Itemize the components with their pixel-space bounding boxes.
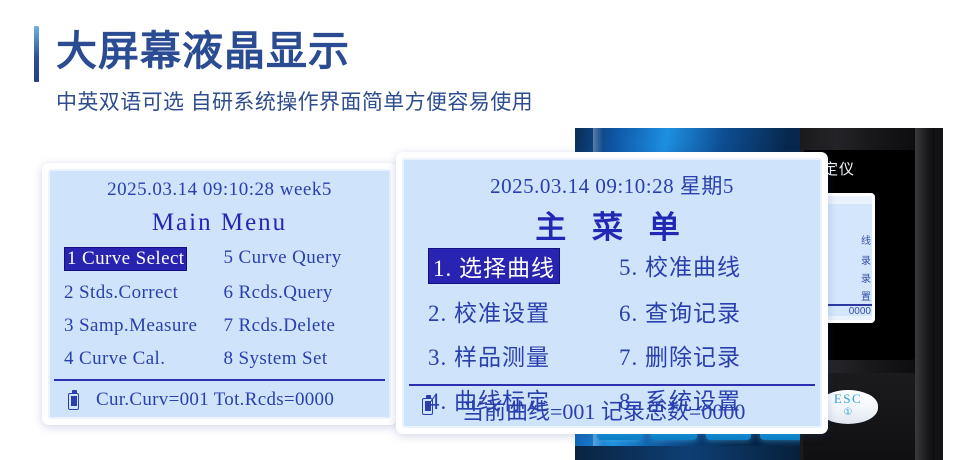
menu-cell: 6 Rcds.Query <box>224 282 384 304</box>
menu-cell: 5 Curve Query <box>224 247 384 271</box>
battery-icon <box>422 398 433 415</box>
menu-item-curve-query[interactable]: 5 Curve Query <box>224 247 342 269</box>
lcd-screen-chinese: 2025.03.14 09:10:28 星期5 主 菜 单 1. 选择曲线 5.… <box>396 152 828 434</box>
device-right-edge <box>915 128 937 460</box>
menu-item-select-curve[interactable]: 1. 选择曲线 <box>428 248 560 284</box>
menu-item-rcds-delete[interactable]: 7 Rcds.Delete <box>224 315 336 337</box>
battery-icon <box>68 393 79 410</box>
device-right-edge-shadow <box>935 128 943 460</box>
menu-grid-chinese: 1. 选择曲线 5. 校准曲线 2. 校准设置 6. 查询记录 3. 样品测量 … <box>428 248 810 416</box>
lcd-screen-english: 2025.03.14 09:10:28 week5 Main Menu 1 Cu… <box>42 163 397 425</box>
status-bar-english: 2025.03.14 09:10:28 week5 <box>50 179 389 201</box>
menu-cell: 4 Curve Cal. <box>64 348 224 370</box>
menu-cell: 3. 样品测量 <box>428 338 619 372</box>
mini-line-4: 置 <box>861 288 871 303</box>
menu-cell: 2. 校准设置 <box>428 294 619 328</box>
menu-cell: 2 Stds.Correct <box>64 282 224 304</box>
menu-item-system-set[interactable]: 8 System Set <box>224 348 328 370</box>
menu-item-curve-cal[interactable]: 4 Curve Cal. <box>64 348 165 370</box>
mini-line-2: 录 <box>861 252 871 267</box>
menu-item-rcds-query[interactable]: 6 Rcds.Query <box>224 282 333 304</box>
screenshot-root: 大屏幕液晶显示 中英双语可选 自研系统操作界面简单方便容易使用 测定仪 线 录 … <box>0 0 980 460</box>
device-base <box>575 446 805 460</box>
menu-item-sample-measure[interactable]: 3. 样品测量 <box>428 338 550 372</box>
menu-cell: 1. 选择曲线 <box>428 248 619 284</box>
menu-item-stds-correct[interactable]: 2 Stds.Correct <box>64 282 178 304</box>
menu-cell: 8 System Set <box>224 348 384 370</box>
menu-cell: 3 Samp.Measure <box>64 315 224 337</box>
lcd-english-inner: 2025.03.14 09:10:28 week5 Main Menu 1 Cu… <box>48 169 391 419</box>
footer-divider-chinese <box>409 384 815 386</box>
menu-item-curve-select[interactable]: 1 Curve Select <box>64 247 187 271</box>
menu-grid-english: 1 Curve Select 5 Curve Query 2 Stds.Corr… <box>64 247 383 370</box>
menu-item-delete-records[interactable]: 7. 删除记录 <box>619 338 741 372</box>
menu-cell: 6. 查询记录 <box>619 294 810 328</box>
menu-title-chinese: 主 菜 单 <box>404 202 820 247</box>
menu-cell: 7. 删除记录 <box>619 338 810 372</box>
accent-bar <box>34 26 39 82</box>
menu-cell: 1 Curve Select <box>64 247 224 271</box>
menu-title-english: Main Menu <box>50 209 389 237</box>
lcd-chinese-inner: 2025.03.14 09:10:28 星期5 主 菜 单 1. 选择曲线 5.… <box>402 158 822 428</box>
menu-item-samp-measure[interactable]: 3 Samp.Measure <box>64 315 197 337</box>
header-block: 大屏幕液晶显示 中英双语可选 自研系统操作界面简单方便容易使用 <box>34 22 654 118</box>
page-title: 大屏幕液晶显示 <box>56 22 350 80</box>
menu-item-calibration-settings[interactable]: 2. 校准设置 <box>428 294 550 328</box>
status-footer-english: Cur.Curv=001 Tot.Rcds=0000 <box>96 389 334 411</box>
menu-item-query-records[interactable]: 6. 查询记录 <box>619 294 741 328</box>
menu-cell: 5. 校准曲线 <box>619 248 810 284</box>
mini-line-3: 录 <box>861 270 871 285</box>
footer-divider-english <box>54 379 385 381</box>
page-subtitle: 中英双语可选 自研系统操作界面简单方便容易使用 <box>56 88 533 118</box>
mini-value: 0000 <box>849 306 871 317</box>
mini-line-1: 线 <box>861 232 871 247</box>
status-bar-chinese: 2025.03.14 09:10:28 星期5 <box>404 170 820 200</box>
status-footer-chinese: 当前曲线=001 记录总数=0000 <box>462 394 745 426</box>
menu-item-calibrate-curve[interactable]: 5. 校准曲线 <box>619 248 741 282</box>
menu-cell: 7 Rcds.Delete <box>224 315 384 337</box>
